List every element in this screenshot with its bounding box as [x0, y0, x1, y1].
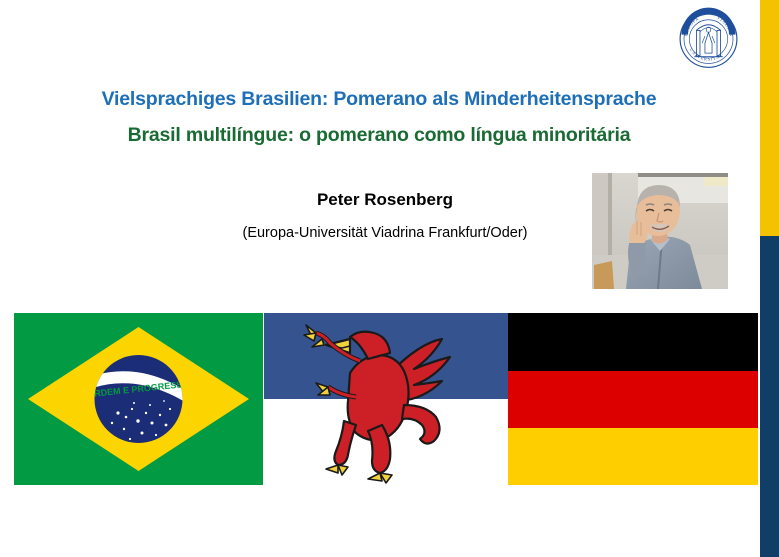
slide-title-portuguese: Brasil multilíngue: o pomerano como líng…	[0, 124, 758, 147]
presentation-title-slide: EUROPA VIADRINA UNIVERSITÄT	[0, 0, 779, 557]
author-name: Peter Rosenberg	[170, 190, 600, 210]
author-portrait-photo	[592, 173, 728, 289]
edge-accent-bar-blue	[760, 236, 779, 557]
slide-title-german: Vielsprachiges Brasilien: Pomerano als M…	[0, 88, 758, 111]
flag-pomerania	[264, 313, 508, 485]
university-seal-icon: EUROPA VIADRINA UNIVERSITÄT	[672, 2, 745, 73]
edge-accent-bar-yellow	[760, 0, 779, 236]
author-affiliation: (Europa-Universität Viadrina Frankfurt/O…	[170, 225, 600, 241]
flag-germany	[508, 313, 758, 485]
flag-brazil: ORDEM E PROGRESSO	[14, 313, 263, 485]
